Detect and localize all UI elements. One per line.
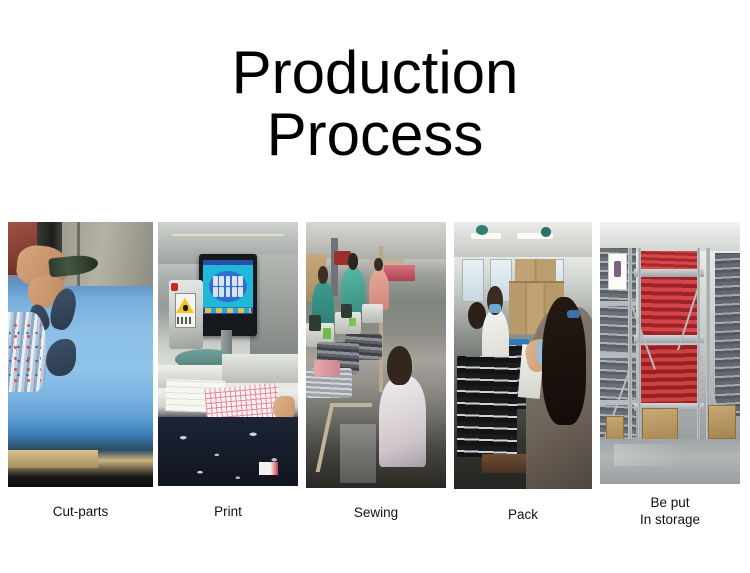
photo-pack (454, 222, 592, 489)
warehouse-floor (600, 439, 740, 484)
screen-key (238, 276, 243, 286)
ceiling-fan-icon (541, 227, 551, 236)
screen-key (226, 276, 231, 286)
shelf-beam (634, 269, 704, 277)
printed-fabric-dots (9, 320, 41, 384)
monitor-screen (203, 260, 254, 314)
rack-upright (638, 248, 642, 458)
process-steps: Cut-parts (0, 222, 750, 542)
camouflage-fabric (158, 417, 298, 486)
window (462, 259, 484, 302)
cut-panel-shape (46, 339, 76, 376)
title-line-1: Production (0, 42, 750, 104)
sewing-machine-head (309, 315, 322, 331)
pink-garment (314, 360, 339, 376)
hair-tie (567, 310, 579, 318)
step-caption-pack: Pack (454, 489, 592, 523)
warning-label-text (177, 317, 193, 324)
foreground-worker (379, 376, 427, 466)
process-step-print: Print (158, 222, 298, 520)
title-line-2: Process (0, 104, 750, 166)
step-caption-print: Print (158, 486, 298, 520)
caption-line-1: Cut-parts (8, 503, 153, 520)
rack-upright (628, 248, 632, 458)
production-process-infographic: Production Process Cut-parts (0, 0, 750, 573)
cardboard-box (708, 405, 736, 439)
caption-line-1: Print (158, 503, 298, 520)
process-step-storage: Be put In storage (600, 222, 740, 528)
rack-sign-card (608, 253, 626, 290)
caption-line-1: Pack (454, 506, 592, 523)
pink-fabric-roll (384, 265, 415, 281)
photo-print (158, 222, 298, 486)
green-fabric-piece (349, 318, 356, 326)
step-caption-storage: Be put In storage (600, 484, 740, 528)
screen-key (232, 287, 237, 297)
screen-key (219, 276, 224, 286)
process-step-cut-parts: Cut-parts (8, 222, 153, 520)
screen-keypad (213, 276, 243, 297)
red-garment-stack (638, 345, 700, 405)
green-fabric-piece (323, 328, 331, 339)
work-bench (482, 454, 529, 473)
indicator-lamp (171, 283, 178, 291)
screen-key (219, 287, 224, 297)
step-caption-sewing: Sewing (306, 488, 446, 521)
caption-line-1: Be put (600, 494, 740, 511)
step-caption-cut-parts: Cut-parts (8, 487, 153, 520)
caption-line-2: In storage (600, 511, 740, 528)
ceiling-background (600, 222, 740, 251)
sewing-machine-head (341, 304, 352, 317)
rack-upright (697, 248, 701, 458)
page-title: Production Process (0, 42, 750, 166)
photo-cut-parts (8, 222, 153, 487)
background-rack (331, 238, 338, 297)
ceiling-background (454, 222, 592, 257)
worker-hair (542, 297, 586, 425)
caption-line-1: Sewing (306, 504, 446, 521)
photo-storage (600, 222, 740, 484)
process-step-pack: Pack (454, 222, 592, 523)
screen-status-bar (205, 308, 252, 313)
folded-garment-stack (457, 356, 518, 457)
screen-key (232, 276, 237, 286)
screen-key (213, 276, 218, 286)
background-machine (250, 254, 298, 365)
sewing-machine (362, 304, 383, 323)
control-monitor (199, 254, 258, 336)
screen-key (213, 287, 218, 297)
screen-key (238, 287, 243, 297)
work-table-right (222, 354, 298, 383)
screen-key (226, 287, 231, 297)
right-storage-rack (715, 253, 740, 415)
wall-background (60, 222, 153, 286)
warning-label (175, 293, 196, 327)
photo-sewing (306, 222, 446, 488)
ceiling-background (306, 222, 446, 259)
warning-triangle-icon (176, 298, 194, 313)
fabric-tag (259, 462, 279, 475)
cutting-table-edge (8, 450, 98, 469)
process-step-sewing: Sewing (306, 222, 446, 521)
